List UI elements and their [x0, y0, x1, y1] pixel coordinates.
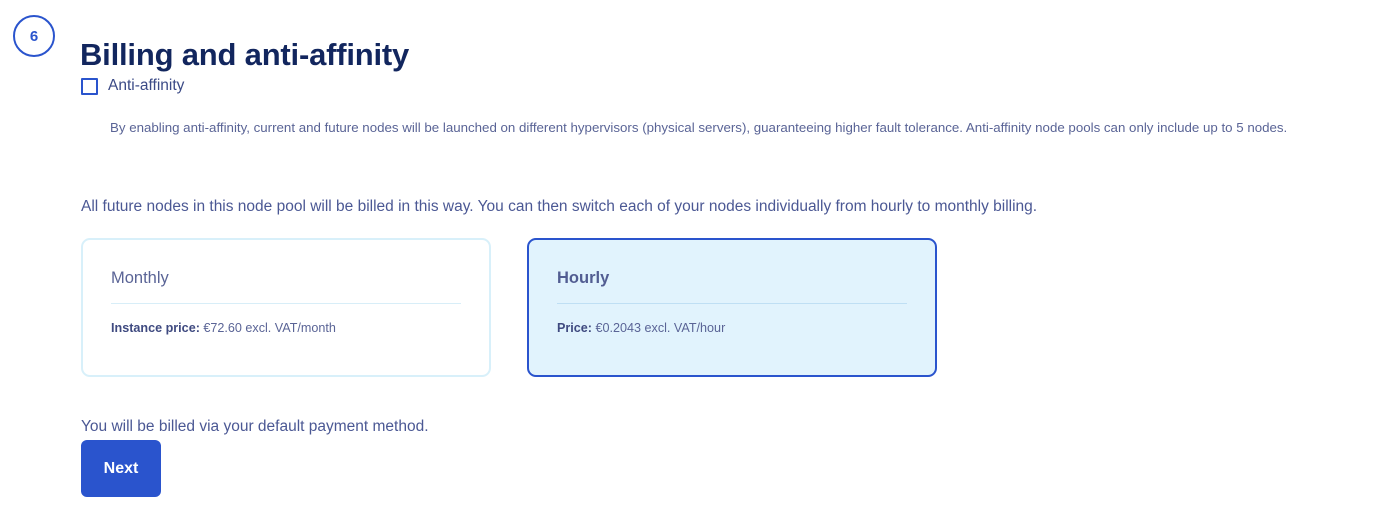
card-divider — [557, 303, 907, 304]
anti-affinity-row[interactable]: Anti-affinity — [81, 76, 184, 96]
card-divider — [111, 303, 461, 304]
price-value: €0.2043 excl. VAT/hour — [596, 321, 726, 335]
billing-option-hourly-price: Price: €0.2043 excl. VAT/hour — [557, 319, 907, 337]
price-label: Price: — [557, 321, 592, 335]
step-number: 6 — [30, 28, 38, 45]
price-label: Instance price: — [111, 321, 200, 335]
billing-option-hourly[interactable]: Hourly Price: €0.2043 excl. VAT/hour — [527, 238, 937, 377]
next-button[interactable]: Next — [81, 440, 161, 497]
billing-option-monthly-price: Instance price: €72.60 excl. VAT/month — [111, 319, 461, 337]
anti-affinity-description: By enabling anti-affinity, current and f… — [110, 116, 1372, 140]
billing-option-hourly-title: Hourly — [557, 268, 907, 288]
anti-affinity-label: Anti-affinity — [108, 76, 184, 96]
payment-method-note: You will be billed via your default paym… — [81, 416, 429, 438]
billing-option-monthly[interactable]: Monthly Instance price: €72.60 excl. VAT… — [81, 238, 491, 377]
price-value: €72.60 excl. VAT/month — [203, 321, 336, 335]
page-title: Billing and anti-affinity — [80, 37, 409, 73]
billing-option-monthly-title: Monthly — [111, 268, 461, 288]
anti-affinity-checkbox[interactable] — [81, 78, 98, 95]
step-number-badge: 6 — [13, 15, 55, 57]
billing-note: All future nodes in this node pool will … — [81, 196, 1037, 218]
step-header: 6 Billing and anti-affinity — [0, 0, 1400, 66]
